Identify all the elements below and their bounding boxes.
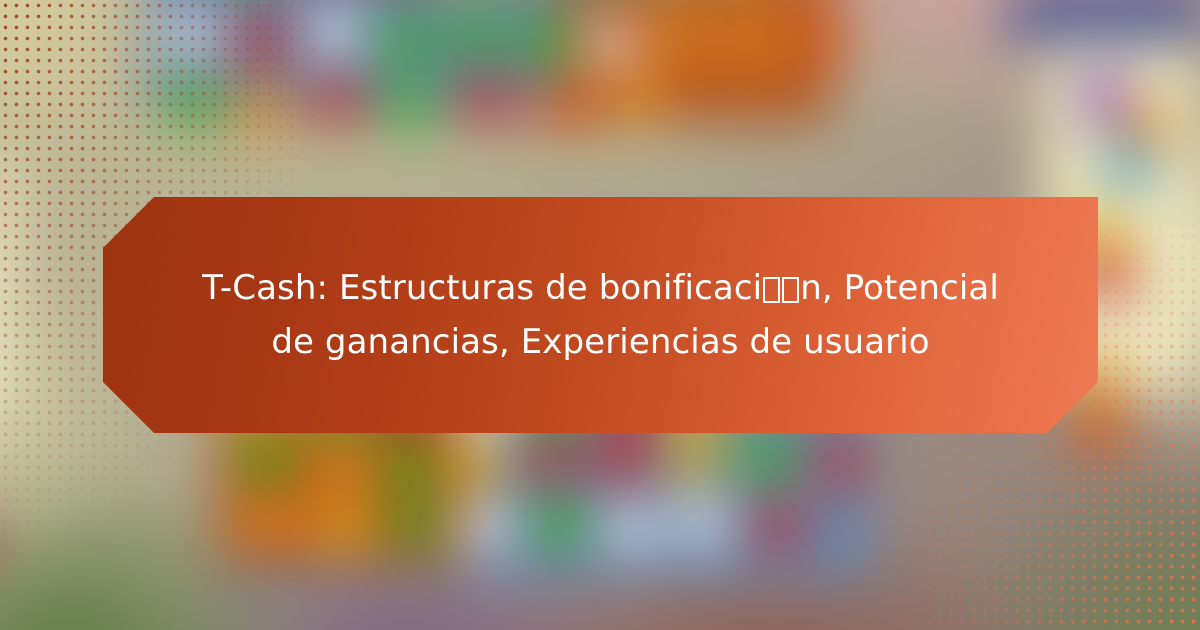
game-gem: [534, 498, 583, 547]
game-gem: [799, 13, 848, 62]
game-gem: [390, 498, 439, 547]
title-line-1-part-b: n, Potencial: [800, 268, 999, 308]
game-gem: [452, 11, 501, 60]
game-gem: [314, 77, 363, 126]
banner-title: T-Cash: Estructuras de bonificacin, Pote…: [181, 261, 1021, 369]
game-panel-right-header: [1016, 0, 1200, 43]
game-gem: [1077, 407, 1126, 456]
game-gem: [678, 498, 727, 547]
game-gem: [522, 15, 571, 64]
title-line-2: de ganancias, Experiencias de usuario: [271, 322, 929, 362]
missing-glyph-box-2: [782, 277, 799, 303]
social-share-card: T-Cash: Estructuras de bonificacin, Pote…: [0, 0, 1200, 630]
game-gem: [729, 17, 778, 66]
game-gem: [587, 19, 636, 68]
title-banner: T-Cash: Estructuras de bonificacin, Pote…: [103, 197, 1098, 433]
game-gem: [613, 77, 662, 126]
game-gem: [454, 439, 503, 488]
game-gem: [310, 9, 359, 58]
game-gem: [536, 83, 585, 132]
game-gem: [384, 435, 433, 484]
title-line-1-part-a: T-Cash: Estructuras de bonificaci: [202, 268, 762, 308]
game-gem: [380, 13, 429, 62]
game-gem: [1079, 74, 1128, 123]
game-gem: [526, 433, 575, 482]
game-gem: [237, 85, 286, 134]
game-gem: [755, 500, 804, 549]
game-gem: [168, 79, 217, 128]
game-gem: [170, 11, 219, 60]
game-gem: [246, 498, 295, 547]
game-gem: [462, 503, 511, 552]
game-panel-left: [0, 159, 17, 424]
game-gem: [237, 15, 286, 64]
game-gem: [606, 503, 655, 552]
game-gem: [814, 437, 863, 486]
game-gem: [320, 503, 369, 552]
game-gem: [670, 435, 719, 484]
game-gem: [318, 439, 367, 488]
game-gem: [462, 77, 511, 126]
game-gem: [242, 433, 291, 482]
game-gem: [657, 13, 706, 62]
game-gem: [742, 433, 791, 482]
game-gem: [598, 437, 647, 486]
missing-glyph-box-1: [763, 277, 780, 303]
game-gem: [1105, 140, 1154, 189]
game-gem: [386, 81, 435, 130]
